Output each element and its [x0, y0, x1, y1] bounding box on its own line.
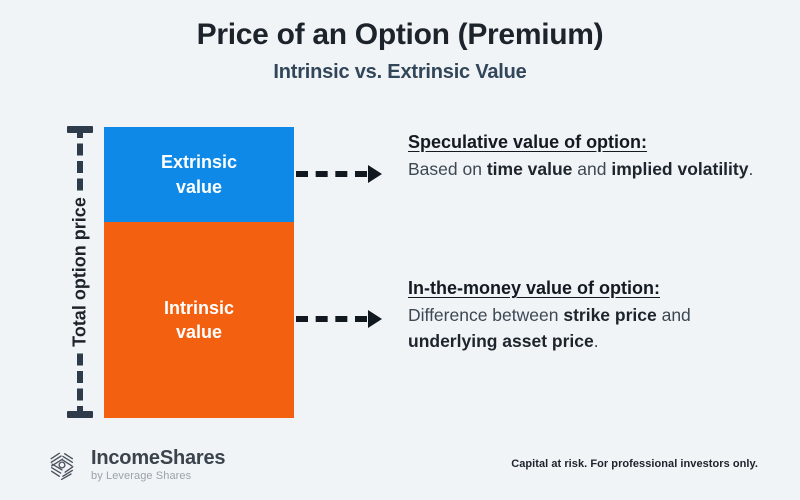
callout-intrinsic: In-the-money value of option: Difference…: [408, 276, 768, 354]
stacked-bar-chart: Extrinsic value Intrinsic value: [104, 127, 294, 418]
disclaimer-text: Capital at risk. For professional invest…: [511, 458, 758, 470]
bar-segment-intrinsic-label: Intrinsic value: [164, 296, 234, 345]
arrow-line: [296, 171, 367, 177]
intrinsic-label-line2: value: [176, 322, 222, 342]
bracket-cap-top: [67, 126, 93, 133]
logo-name: IncomeShares: [91, 448, 225, 469]
brand-logo[interactable]: IncomeShares by Leverage Shares: [44, 447, 225, 483]
intrinsic-label-line1: Intrinsic: [164, 298, 234, 318]
header: Price of an Option (Premium) Intrinsic v…: [0, 18, 800, 84]
callout-extrinsic-heading: Speculative value of option:: [408, 130, 768, 154]
arrow-intrinsic-to-callout: [296, 312, 382, 326]
callout-extrinsic: Speculative value of option: Based on ti…: [408, 130, 768, 183]
bracket-cap-bottom: [67, 411, 93, 418]
bar-segment-intrinsic: Intrinsic value: [104, 222, 294, 418]
callout-intrinsic-heading: In-the-money value of option:: [408, 276, 768, 300]
logo-tagline: by Leverage Shares: [91, 471, 225, 483]
page-title: Price of an Option (Premium): [0, 18, 800, 51]
axis-label: Total option price: [64, 193, 97, 351]
bar-segment-extrinsic-label: Extrinsic value: [161, 150, 237, 199]
arrow-extrinsic-to-callout: [296, 167, 382, 181]
arrow-head-icon: [368, 165, 382, 183]
incomeshares-hexagon-icon: [44, 447, 80, 483]
callout-extrinsic-body: Based on time value and implied volatili…: [408, 157, 768, 182]
logo-text: IncomeShares by Leverage Shares: [91, 448, 225, 483]
arrow-line: [296, 316, 367, 322]
total-option-price-bracket: Total option price: [62, 126, 98, 418]
page-subtitle: Intrinsic vs. Extrinsic Value: [0, 61, 800, 84]
bar-segment-extrinsic: Extrinsic value: [104, 127, 294, 222]
callout-intrinsic-body: Difference between strike price and unde…: [408, 303, 768, 354]
extrinsic-label-line1: Extrinsic: [161, 152, 237, 172]
extrinsic-label-line2: value: [176, 177, 222, 197]
arrow-head-icon: [368, 310, 382, 328]
